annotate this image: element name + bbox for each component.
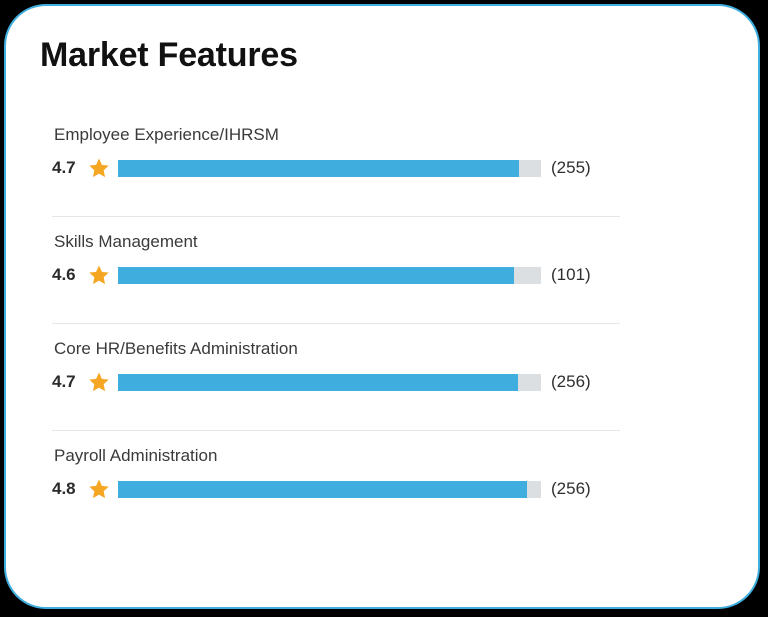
rating-value: 4.6 — [52, 263, 82, 287]
feature-label: Employee Experience/IHRSM — [54, 124, 279, 146]
list-item: Core HR/Benefits Administration 4.7 (256… — [52, 323, 620, 430]
page-title: Market Features — [40, 34, 298, 76]
rating-bar-track — [118, 374, 541, 391]
list-item: Skills Management 4.6 (101) — [52, 216, 620, 323]
rating-line: 4.8 (256) — [52, 477, 591, 501]
rating-line: 4.6 (101) — [52, 263, 591, 287]
rating-value: 4.7 — [52, 370, 82, 394]
star-icon — [88, 478, 110, 500]
market-features-card: Market Features Employee Experience/IHRS… — [4, 4, 760, 609]
feature-label: Skills Management — [54, 231, 198, 253]
rating-line: 4.7 (256) — [52, 370, 591, 394]
rating-value: 4.8 — [52, 477, 82, 501]
rating-bar-fill — [118, 267, 514, 284]
rating-bar-track — [118, 267, 541, 284]
rating-count: (101) — [551, 263, 591, 287]
feature-label: Payroll Administration — [54, 445, 217, 467]
rating-count: (255) — [551, 156, 591, 180]
feature-rating-list: Employee Experience/IHRSM 4.7 (255) Skil… — [52, 110, 620, 537]
rating-bar-track — [118, 160, 541, 177]
star-icon — [88, 157, 110, 179]
rating-count: (256) — [551, 370, 591, 394]
rating-count: (256) — [551, 477, 591, 501]
rating-bar-fill — [118, 160, 519, 177]
rating-value: 4.7 — [52, 156, 82, 180]
rating-bar-track — [118, 481, 541, 498]
rating-bar-fill — [118, 481, 527, 498]
list-item: Payroll Administration 4.8 (256) — [52, 430, 620, 537]
rating-line: 4.7 (255) — [52, 156, 591, 180]
list-item: Employee Experience/IHRSM 4.7 (255) — [52, 110, 620, 216]
star-icon — [88, 264, 110, 286]
star-icon — [88, 371, 110, 393]
feature-label: Core HR/Benefits Administration — [54, 338, 298, 360]
rating-bar-fill — [118, 374, 518, 391]
